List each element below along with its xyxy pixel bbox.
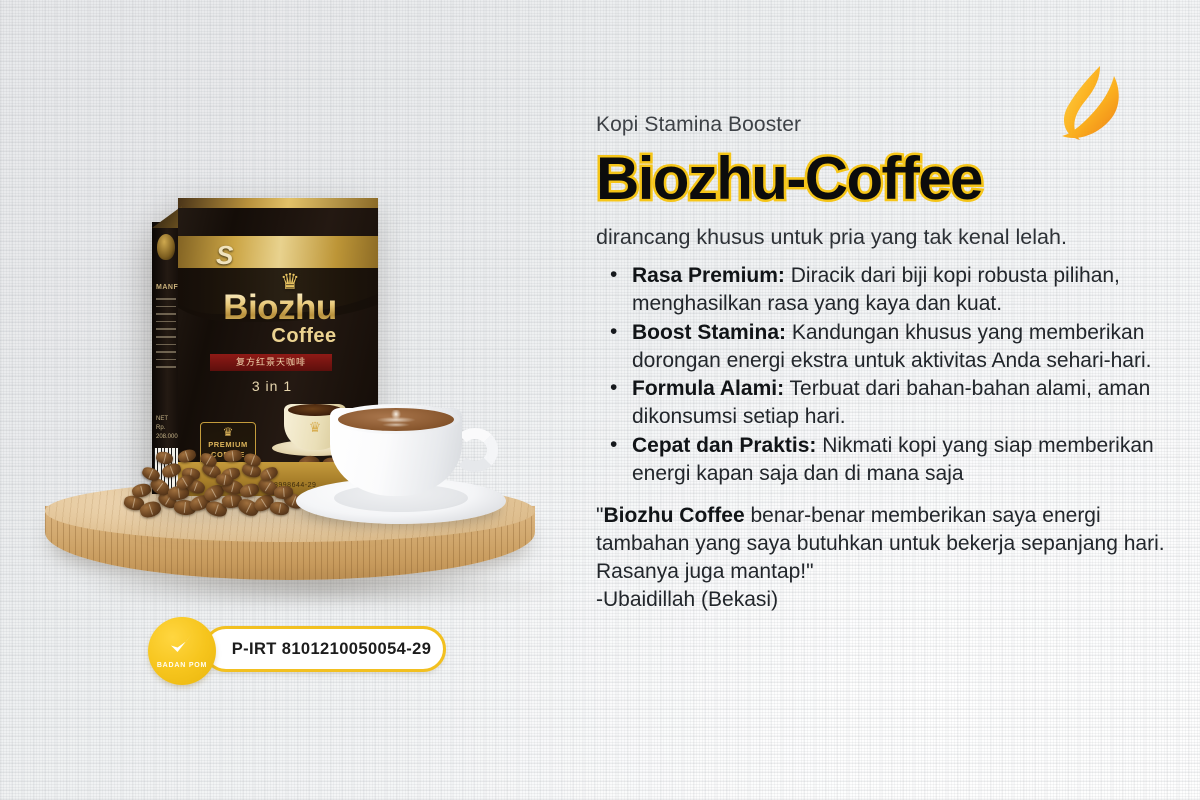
product-scene: MANFAAT NET Rp. 208.000 S ♛ Biozhu Coffe… bbox=[0, 150, 580, 620]
testimonial-attribution: -Ubaidillah (Bekasi) bbox=[596, 586, 1166, 614]
latte-cup bbox=[296, 400, 506, 530]
list-item: Formula Alami: Terbuat dari bahan-bahan … bbox=[596, 375, 1166, 431]
feature-title: Formula Alami: bbox=[632, 377, 784, 400]
box-emblem-icon bbox=[157, 234, 175, 260]
badan-pom-label: BADAN POM bbox=[148, 662, 216, 669]
list-item: Cepat dan Praktis: Nikmati kopi yang sia… bbox=[596, 432, 1166, 488]
check-mark-icon bbox=[168, 632, 194, 658]
seal-crown-icon: ♛ bbox=[201, 426, 255, 439]
feature-title: Cepat dan Praktis: bbox=[632, 434, 816, 457]
box-brand-name: Biozhu bbox=[192, 290, 368, 325]
registration-number: P-IRT 8101210050054-29 bbox=[218, 640, 432, 659]
badan-pom-seal: BADAN POM bbox=[148, 617, 216, 685]
box-cn-banner: 复方红景天咖啡 bbox=[210, 354, 332, 371]
feature-list: Rasa Premium: Diracik dari biji kopi rob… bbox=[596, 262, 1166, 488]
box-panel-title: MANFAAT bbox=[156, 284, 180, 291]
list-item: Rasa Premium: Diracik dari biji kopi rob… bbox=[596, 262, 1166, 318]
box-net-value: Rp. 208.000 bbox=[156, 425, 178, 440]
product-banner: MANFAAT NET Rp. 208.000 S ♛ Biozhu Coffe… bbox=[0, 0, 1200, 800]
board-shadow bbox=[75, 576, 575, 610]
feature-title: Rasa Premium: bbox=[632, 264, 785, 287]
page-title: Biozhu-Coffee bbox=[596, 148, 1166, 209]
box-net-weight: NET Rp. 208.000 bbox=[156, 415, 180, 442]
box-net-label: NET bbox=[156, 416, 168, 422]
copy-block: Kopi Stamina Booster Biozhu-Coffee diran… bbox=[596, 112, 1166, 614]
seal-line-1: PREMIUM bbox=[201, 439, 255, 450]
pom-registration-badge: P-IRT 8101210050054-29 BADAN POM bbox=[148, 617, 448, 685]
testimonial-brand: Biozhu Coffee bbox=[603, 504, 744, 527]
swoosh-s-logo-icon bbox=[1048, 62, 1136, 146]
registration-pill: P-IRT 8101210050054-29 bbox=[203, 626, 446, 672]
lede-text: dirancang khusus untuk pria yang tak ken… bbox=[596, 223, 1166, 251]
box-panel-lines bbox=[156, 298, 176, 374]
feature-title: Boost Stamina: bbox=[632, 321, 786, 344]
box-variant-label: 3 in 1 bbox=[222, 378, 322, 394]
list-item: Boost Stamina: Kandungan khusus yang mem… bbox=[596, 319, 1166, 375]
coffee-beans-pile bbox=[120, 450, 320, 528]
box-brand-sub: Coffee bbox=[238, 326, 370, 346]
testimonial-text: "Biozhu Coffee benar-benar memberikan sa… bbox=[596, 502, 1166, 586]
box-logo-mark: S bbox=[216, 242, 233, 268]
latte-art-icon bbox=[362, 410, 430, 429]
